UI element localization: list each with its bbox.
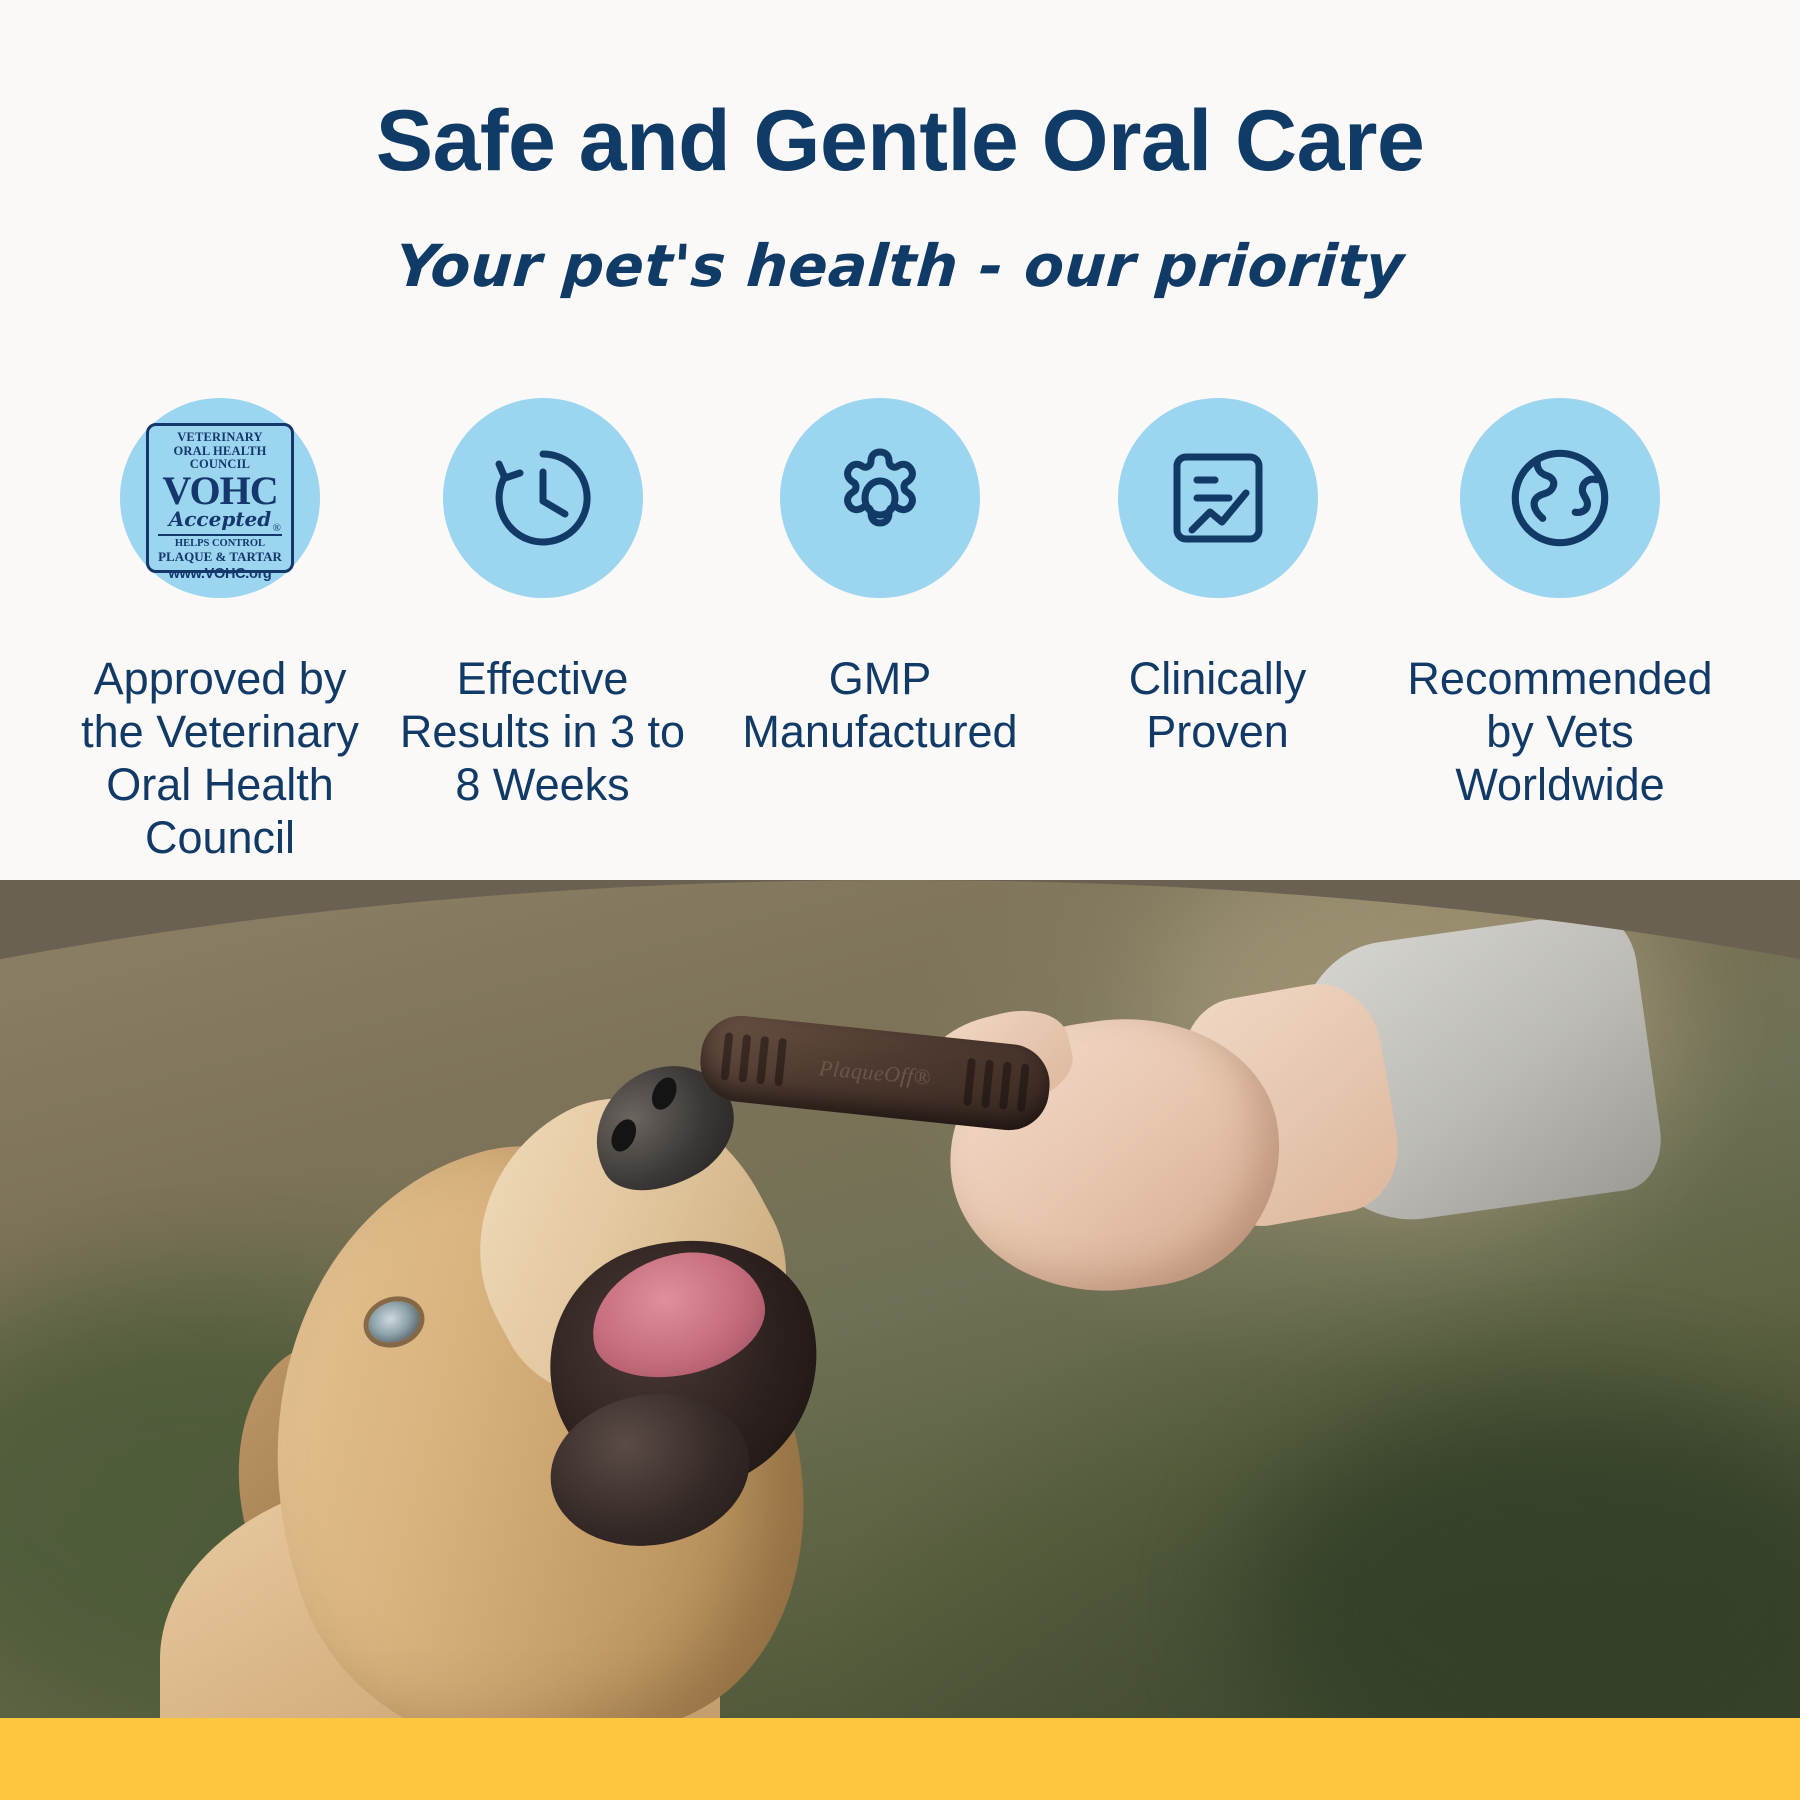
feature-label-vohc: Approved by the Veterinary Oral Health C… xyxy=(70,652,370,864)
bottom-accent-bar xyxy=(0,1718,1800,1800)
feature-label-effective-results: Effective Results in 3 to 8 Weeks xyxy=(393,652,693,811)
feature-label-gmp: GMP Manufactured xyxy=(715,652,1045,758)
vohc-line1: VETERINARY xyxy=(177,431,263,445)
feature-label-clinically-proven: Clinically Proven xyxy=(1068,652,1368,758)
product-photo: PlaqueOff® xyxy=(0,880,1800,1720)
vohc-plaque-text: PLAQUE & TARTAR xyxy=(158,550,282,564)
vohc-divider xyxy=(158,534,282,536)
vohc-accepted-seal-icon: VETERINARY ORAL HEALTH COUNCIL VOHC Acce… xyxy=(120,398,320,598)
feature-label-recommended-by-vets: Recommended by Vets Worldwide xyxy=(1390,652,1730,811)
globe-icon xyxy=(1460,398,1660,598)
vohc-accepted-word: Accepted xyxy=(169,507,272,531)
page-title: Safe and Gentle Oral Care xyxy=(0,96,1800,186)
chart-document-icon xyxy=(1118,398,1318,598)
feature-clinically-proven: Clinically Proven xyxy=(1068,398,1368,758)
vohc-acronym: VOHC xyxy=(162,473,277,510)
product-brand-label: PlaqueOff® xyxy=(818,1055,932,1091)
hand-image xyxy=(940,920,1640,1340)
feature-vohc-approved: VETERINARY ORAL HEALTH COUNCIL VOHC Acce… xyxy=(70,398,370,864)
clock-rotate-icon xyxy=(443,398,643,598)
vohc-registered-mark: ® xyxy=(273,522,281,534)
product-infographic: Safe and Gentle Oral Care Your pet's hea… xyxy=(0,0,1800,1800)
feature-row: VETERINARY ORAL HEALTH COUNCIL VOHC Acce… xyxy=(70,398,1730,864)
vohc-url: www.VOHC.org xyxy=(120,566,320,582)
feature-gmp-manufactured: GMP Manufactured xyxy=(715,398,1045,758)
page-subtitle: Your pet's health - our priority xyxy=(0,232,1800,300)
gear-icon xyxy=(780,398,980,598)
feature-effective-results: Effective Results in 3 to 8 Weeks xyxy=(393,398,693,811)
feature-recommended-by-vets: Recommended by Vets Worldwide xyxy=(1390,398,1730,811)
dog-image xyxy=(120,1040,980,1720)
